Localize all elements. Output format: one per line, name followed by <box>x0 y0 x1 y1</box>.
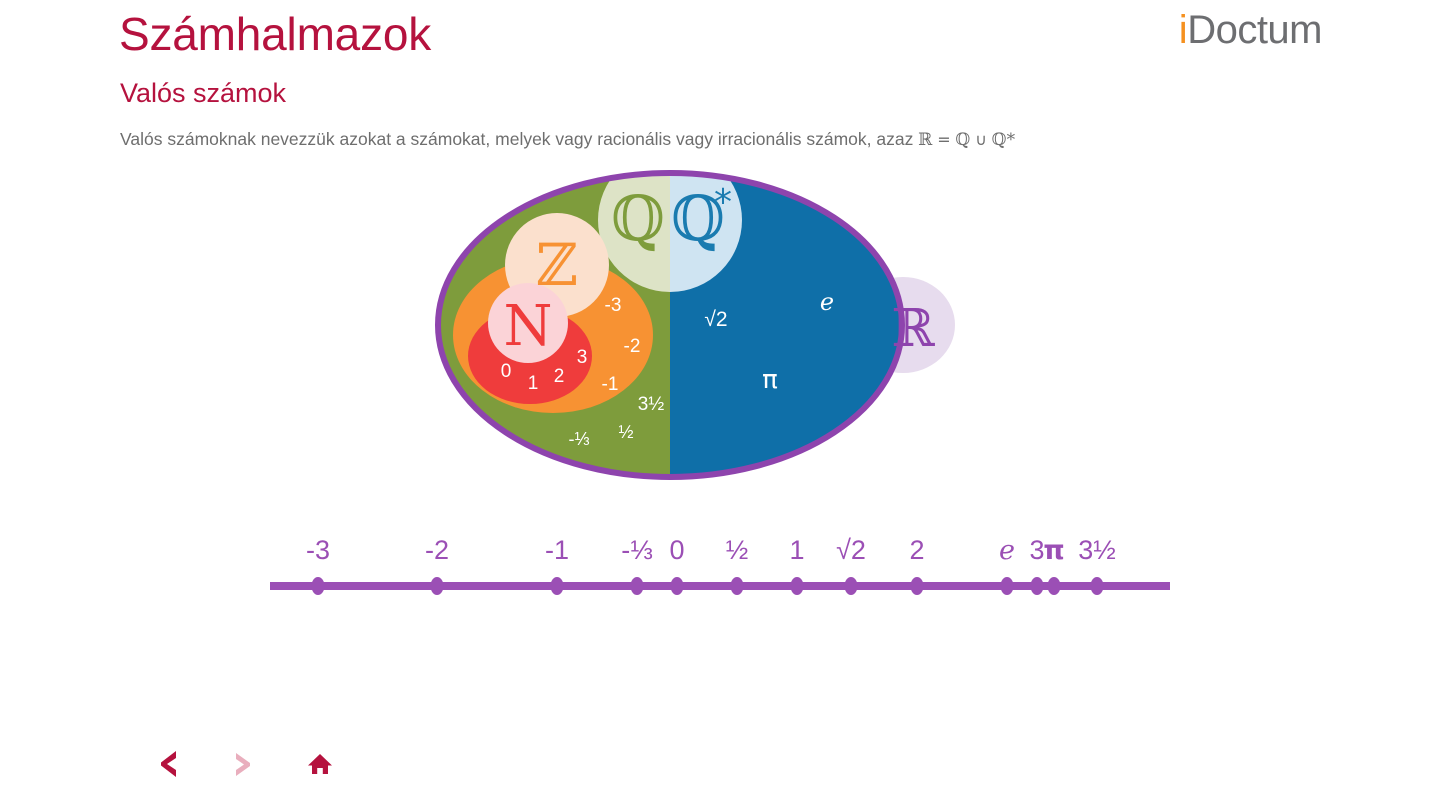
number-line-tick-dot[interactable] <box>551 577 564 595</box>
element-rational-3half: 3½ <box>638 394 665 415</box>
irrational-set-label-star: * <box>714 182 732 223</box>
number-line-tick-dot[interactable] <box>731 577 744 595</box>
number-line-tick-label: 3 <box>1029 535 1044 565</box>
rational-set-label: ℚ <box>611 182 665 255</box>
number-line-tick-dot[interactable] <box>911 577 924 595</box>
number-line-tick-label: 3½ <box>1078 535 1116 565</box>
number-sets-venn-diagram: ℚ ℚ * ℤ N ℝ 0 1 2 3 -3 -2 -1 3½ -⅓ ½ √2 … <box>420 160 990 500</box>
brand-logo-prefix: i <box>1179 8 1187 52</box>
page-title: Számhalmazok <box>119 6 431 64</box>
number-line-tick-label: 2 <box>909 535 924 565</box>
chevron-left-icon <box>161 751 176 777</box>
number-line-tick-label: -2 <box>425 535 449 565</box>
element-irrational-pi: π <box>762 365 778 395</box>
brand-logo-name: Doctum <box>1187 8 1322 52</box>
forward-button[interactable] <box>224 744 264 784</box>
element-rational-minus-third: -⅓ <box>568 429 589 449</box>
back-button[interactable] <box>148 744 188 784</box>
natural-set-label: N <box>504 294 553 359</box>
number-line-tick-dot[interactable] <box>845 577 858 595</box>
number-line-tick-dot[interactable] <box>1001 577 1014 595</box>
number-line-tick-label: -3 <box>306 535 330 565</box>
home-icon <box>308 754 332 774</box>
number-line-tick-label: 1 <box>789 535 804 565</box>
number-line-tick-dot[interactable] <box>431 577 444 595</box>
number-line-tick-dot[interactable] <box>1091 577 1104 595</box>
number-line-tick-dot[interactable] <box>1048 577 1061 595</box>
number-line-tick-label: 0 <box>669 535 684 565</box>
chevron-right-icon <box>236 753 250 776</box>
element-integer-minus3: -3 <box>605 295 622 316</box>
equals-symbol: = <box>937 130 950 149</box>
element-rational-half: ½ <box>618 422 633 442</box>
number-line-tick-label: π <box>1043 535 1064 566</box>
real-number-line: -3-2-1-⅓0½1√22e3π3½ <box>250 515 1200 615</box>
element-irrational-e: e <box>820 288 834 316</box>
home-button[interactable] <box>300 744 340 784</box>
element-integer-minus1: -1 <box>602 374 619 395</box>
number-line-tick-label: -⅓ <box>621 535 653 565</box>
union-symbol: ∪ <box>975 130 987 149</box>
irrational-symbol: ℚ* <box>992 130 1015 150</box>
brand-logo[interactable]: iDoctum <box>1179 8 1322 53</box>
integer-set-label: ℤ <box>536 231 578 299</box>
lead-paragraph: Valós számoknak nevezzük azokat a számok… <box>120 128 1015 152</box>
number-line-tick-dot[interactable] <box>631 577 644 595</box>
number-line-tick-dot[interactable] <box>312 577 325 595</box>
element-integer-minus2: -2 <box>624 336 641 357</box>
number-line-tick-label: e <box>999 535 1015 566</box>
number-line-tick-label: -1 <box>545 535 569 565</box>
footer-navigation <box>148 744 340 784</box>
real-symbol: ℝ <box>918 130 932 150</box>
lead-text: Valós számoknak nevezzük azokat a számok… <box>120 129 918 149</box>
page-subtitle: Valós számok <box>120 77 286 111</box>
real-set-label: ℝ <box>891 299 935 359</box>
element-irrational-sqrt2: √2 <box>704 308 727 331</box>
rational-symbol: ℚ <box>956 130 971 150</box>
number-line-tick-dot[interactable] <box>671 577 684 595</box>
element-natural-2: 2 <box>554 366 565 387</box>
number-line-tick-label: ½ <box>726 535 749 565</box>
element-natural-1: 1 <box>528 373 539 394</box>
number-line-tick-dot[interactable] <box>1031 577 1044 595</box>
number-line-tick-label: √2 <box>836 535 866 565</box>
element-natural-0: 0 <box>501 361 512 382</box>
element-natural-3: 3 <box>577 347 588 368</box>
number-line-tick-dot[interactable] <box>791 577 804 595</box>
